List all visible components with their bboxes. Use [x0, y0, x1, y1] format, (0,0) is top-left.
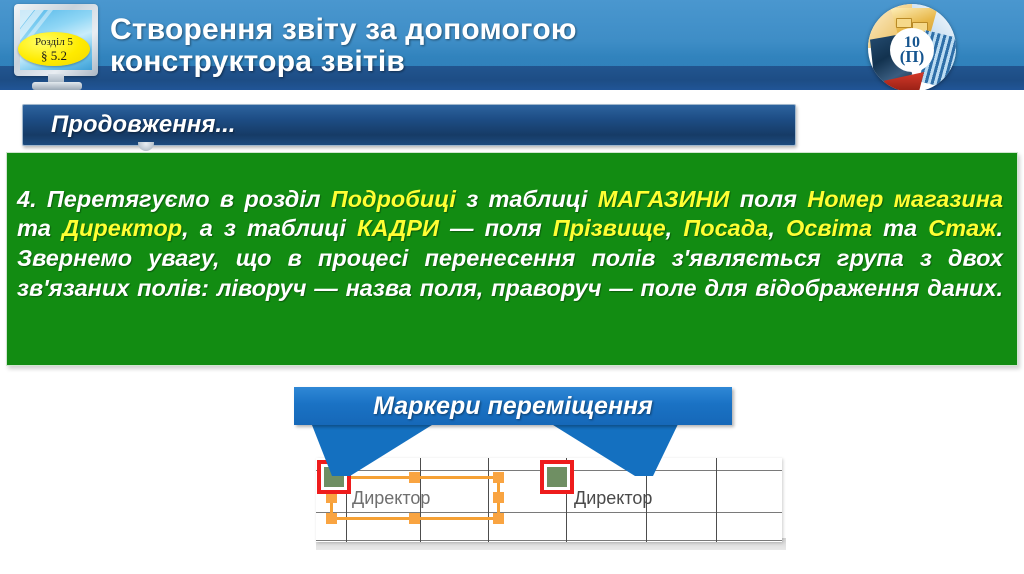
highlight-magazyny: МАГАЗИНИ: [598, 186, 730, 212]
body-paragraph: 4. Перетягуємо в розділ Подробиці з табл…: [17, 185, 1003, 334]
list-number: 4.: [17, 186, 37, 212]
monitor-base: [32, 82, 82, 90]
content-box: 4. Перетягуємо в розділ Подробиці з табл…: [6, 152, 1018, 366]
highlight-osvita: Освіта: [786, 215, 872, 241]
subtitle-bar: Продовження...: [22, 104, 796, 146]
resize-handle-sw[interactable]: [326, 513, 337, 524]
text-segment: Перетягуємо в розділ: [37, 186, 331, 212]
highlight-podrobyci: Подробиці: [331, 186, 456, 212]
resize-handle-ne[interactable]: [493, 472, 504, 483]
page-title: Створення звіту за допомогою конструктор…: [110, 0, 850, 92]
highlight-stazh: Стаж: [928, 215, 996, 241]
gold-bar: [896, 18, 912, 28]
callout-label: Маркери переміщення: [373, 392, 653, 421]
subtitle-knob-decoration: [138, 142, 154, 151]
text-segment: ,: [768, 215, 786, 241]
resize-handle-s[interactable]: [409, 513, 420, 524]
chapter-badge-paragraph: § 5.2: [41, 49, 67, 62]
text-segment: поля: [729, 186, 807, 212]
move-marker-value[interactable]: [540, 460, 574, 494]
highlight-nomer-magazyna: Номер магазина: [807, 186, 1003, 212]
grid-vline: [716, 458, 717, 542]
page-title-line-2: конструктора звітів: [110, 46, 850, 78]
highlight-prizvyshche: Прізвище: [553, 215, 666, 241]
resize-handle-n[interactable]: [409, 472, 420, 483]
highlight-dyrektor: Директор: [62, 215, 182, 241]
logo-center-badge: 10 (П): [890, 28, 934, 72]
move-marker-inner: [547, 467, 567, 487]
chapter-badge-section: Розділ 5: [35, 37, 73, 48]
text-segment: , а з таблиці: [182, 215, 357, 241]
text-segment: та: [17, 215, 62, 241]
subtitle-text: Продовження...: [51, 111, 235, 139]
text-segment: — поля: [439, 215, 553, 241]
field-value-director[interactable]: Директор: [574, 488, 652, 509]
text-segment: з таблиці: [456, 186, 598, 212]
resize-handle-se[interactable]: [493, 513, 504, 524]
callout-box: Маркери переміщення: [294, 387, 732, 425]
brand-logo-icon: 10 (П): [868, 4, 956, 92]
text-segment: ,: [666, 215, 684, 241]
highlight-posada: Посада: [683, 215, 768, 241]
field-label-director[interactable]: Директор: [352, 488, 430, 509]
highlight-kadry: КАДРИ: [357, 215, 439, 241]
chapter-badge: Розділ 5 § 5.2: [18, 32, 90, 66]
header-underline: [0, 90, 1024, 92]
page-title-line-1: Створення звіту за допомогою: [110, 14, 850, 46]
report-designer-grid: Директор Директор: [316, 458, 782, 542]
logo-grade-letter: (П): [900, 50, 925, 64]
slide-header: Розділ 5 § 5.2 Створення звіту за допомо…: [0, 0, 1024, 92]
text-segment: та: [872, 215, 928, 241]
grid-hline: [316, 540, 782, 541]
resize-handle-e[interactable]: [493, 492, 504, 503]
